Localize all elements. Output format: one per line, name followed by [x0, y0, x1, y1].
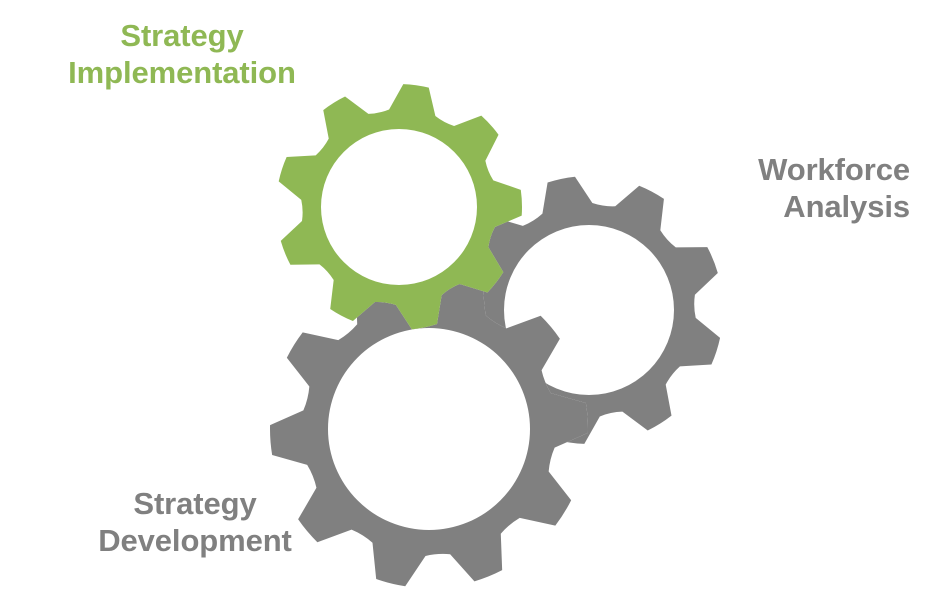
label-workforce-analysis: Workforce Analysis — [610, 152, 910, 225]
label-strategy-development: Strategy Development — [50, 486, 340, 559]
label-strategy-implementation: Strategy Implementation — [22, 18, 342, 91]
gear-diagram-canvas: Strategy Implementation Workforce Analys… — [0, 0, 926, 610]
